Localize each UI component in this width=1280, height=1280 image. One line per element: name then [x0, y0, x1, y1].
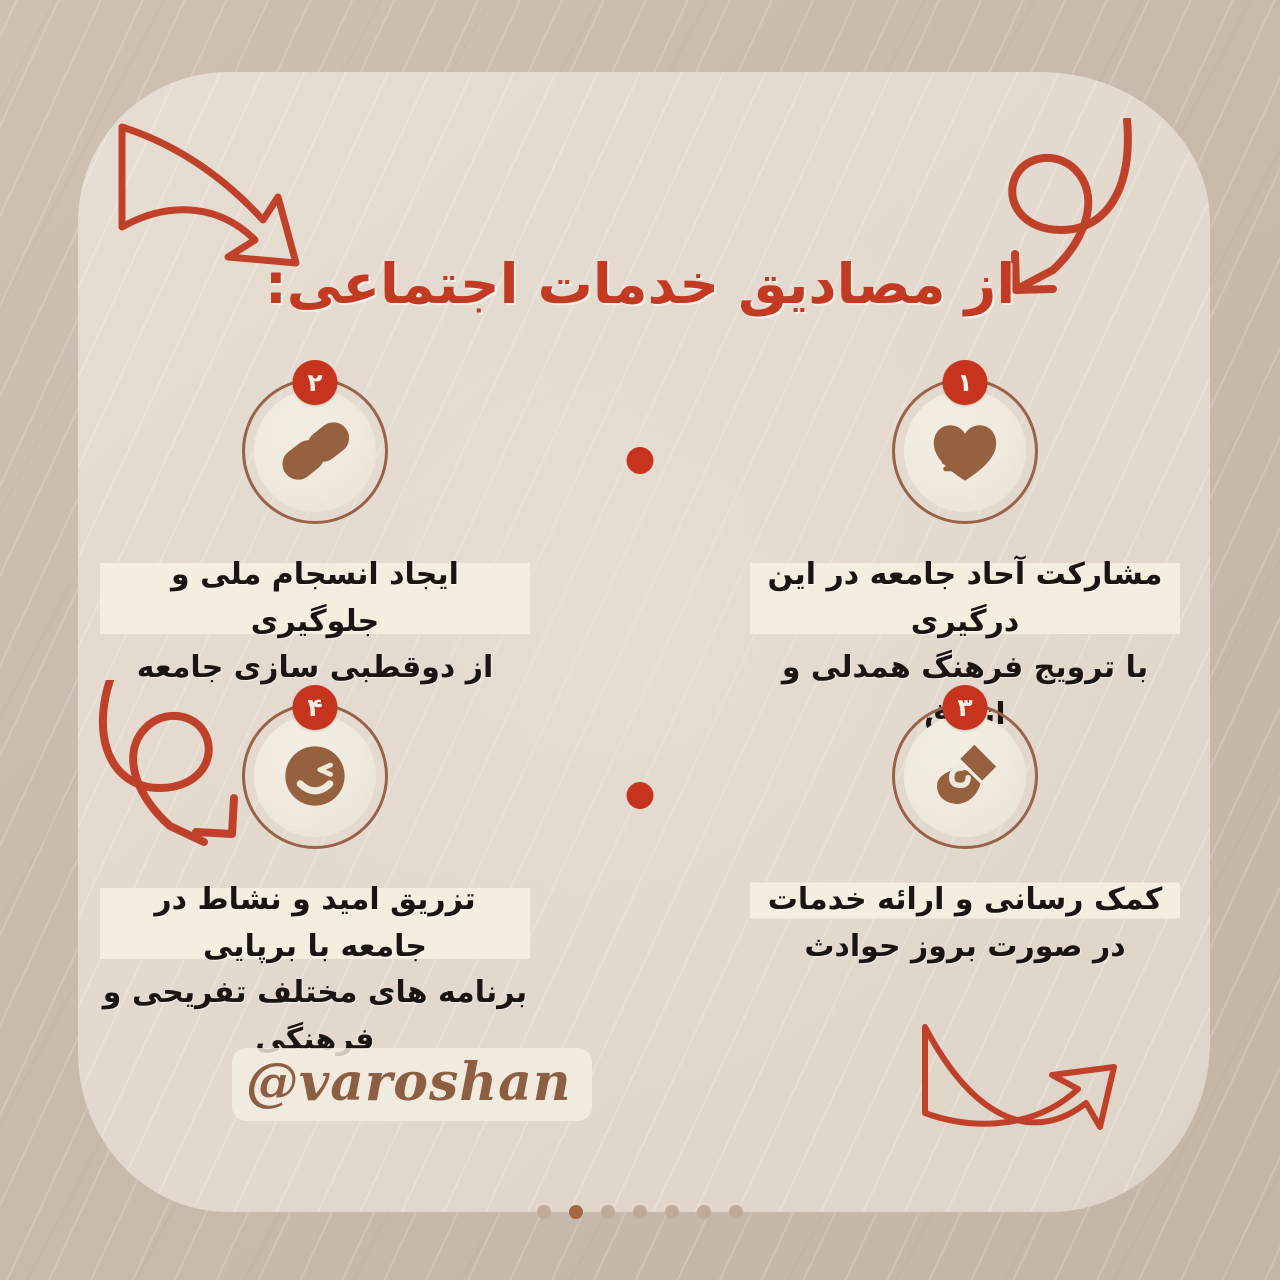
carousel-pagination[interactable] — [0, 1205, 1280, 1219]
service-card-3: ۳ کمک رسانی و ارائه خدمات در صورت بروز ح… — [750, 703, 1180, 970]
title-container: از مصادیق خدمات اجتماعی: — [0, 252, 1280, 316]
card-number-badge: ۳ — [943, 685, 988, 730]
caption-line-1: ایجاد انسجام ملی و جلوگیری — [100, 552, 530, 645]
handshake-heart-icon — [926, 412, 1004, 490]
chain-link-icon — [276, 412, 354, 490]
medallion-disc — [254, 390, 376, 512]
pagination-dot[interactable] — [665, 1205, 679, 1219]
curved-arrow-down-right-icon — [100, 105, 320, 270]
card-number-badge: ۴ — [293, 685, 338, 730]
medallion-disc — [904, 715, 1026, 837]
service-card-4: ۴ تزریق امید و نشاط در جامعه با برپایی ب… — [100, 703, 530, 1063]
card-number-badge: ۲ — [293, 360, 338, 405]
infographic-canvas: از مصادیق خدمات اجتماعی: ۱ — [0, 0, 1280, 1280]
caption-line-1: تزریق امید و نشاط در جامعه با برپایی — [100, 877, 530, 970]
row-separator-dot — [627, 782, 654, 809]
medallion-disc — [904, 390, 1026, 512]
icon-medallion: ۲ — [242, 378, 388, 524]
caption-line-1: کمک رسانی و ارائه خدمات — [750, 877, 1180, 924]
page-title: از مصادیق خدمات اجتماعی: — [265, 252, 1015, 316]
medallion-disc — [254, 715, 376, 837]
pagination-dot[interactable] — [601, 1205, 615, 1219]
card-caption: ایجاد انسجام ملی و جلوگیری از دوقطبی ساز… — [100, 552, 530, 692]
pagination-dot[interactable] — [537, 1205, 551, 1219]
card-number-badge: ۱ — [943, 360, 988, 405]
pagination-dot-active[interactable] — [569, 1205, 583, 1219]
icon-medallion: ۳ — [892, 703, 1038, 849]
pagination-dot[interactable] — [633, 1205, 647, 1219]
caption-line-1: مشارکت آحاد جامعه در این درگیری — [750, 552, 1180, 645]
shovel-icon — [926, 737, 1004, 815]
caption-line-2: در صورت بروز حوادث — [750, 924, 1180, 971]
service-card-2: ۲ ایجاد انسجام ملی و جلوگیری از دوقطبی س… — [100, 378, 530, 692]
icon-medallion: ۴ — [242, 703, 388, 849]
icon-medallion: ۱ — [892, 378, 1038, 524]
social-handle[interactable]: @varoshan — [232, 1048, 592, 1121]
card-caption: کمک رسانی و ارائه خدمات در صورت بروز حوا… — [750, 877, 1180, 970]
pagination-dot[interactable] — [697, 1205, 711, 1219]
curved-arrow-up-left-icon — [905, 1015, 1130, 1135]
service-card-1: ۱ مشارکت آحاد جامعه در این درگیری — [750, 378, 1180, 738]
card-caption: تزریق امید و نشاط در جامعه با برپایی برن… — [100, 877, 530, 1063]
row-separator-dot — [627, 447, 654, 474]
winking-smiley-icon — [276, 737, 354, 815]
pagination-dot[interactable] — [729, 1205, 743, 1219]
